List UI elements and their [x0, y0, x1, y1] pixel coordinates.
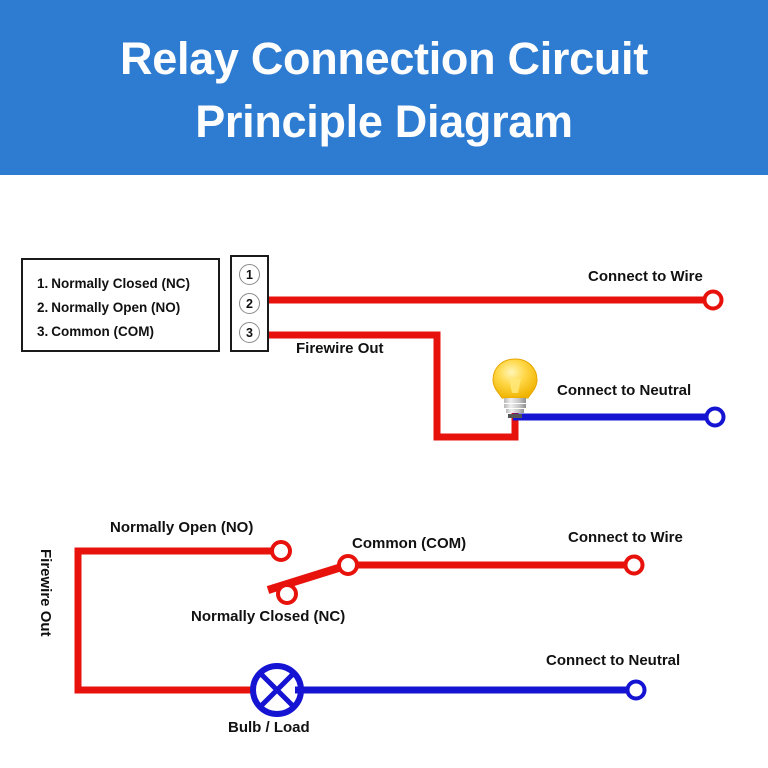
- terminal-pin-1[interactable]: 1: [239, 264, 260, 285]
- label-firewire-out-top: Firewire Out: [296, 340, 384, 357]
- terminal-connect-to-wire-top: [705, 292, 722, 309]
- legend-item-nc-number: 1.: [37, 276, 48, 291]
- diagram-page: Relay Connection Circuit Principle Diagr…: [0, 0, 768, 768]
- legend-item-nc-label: Normally Closed (NC): [51, 276, 190, 291]
- terminal-normally-open: [272, 542, 290, 560]
- terminal-connect-to-neutral-bottom: [628, 682, 645, 699]
- legend-item-com: 3.Common (COM): [37, 320, 218, 344]
- legend-item-nc: 1.Normally Closed (NC): [37, 272, 218, 296]
- label-normally-closed: Normally Closed (NC): [191, 608, 345, 625]
- terminal-common: [339, 556, 357, 574]
- label-firewire-out-bottom: Firewire Out: [37, 549, 54, 637]
- legend-item-com-number: 3.: [37, 324, 48, 339]
- label-common: Common (COM): [352, 535, 466, 552]
- label-connect-to-wire-top: Connect to Wire: [588, 268, 703, 285]
- legend-item-com-label: Common (COM): [51, 324, 154, 339]
- terminal-pin-2[interactable]: 2: [239, 293, 260, 314]
- label-connect-to-neutral-bottom: Connect to Neutral: [546, 652, 680, 669]
- terminal-connect-to-neutral-top: [707, 409, 724, 426]
- terminal-pin-3[interactable]: 3: [239, 322, 260, 343]
- lightbulb-icon: [490, 357, 540, 419]
- legend-item-no: 2.Normally Open (NO): [37, 296, 218, 320]
- label-connect-to-wire-bottom: Connect to Wire: [568, 529, 683, 546]
- label-connect-to-neutral-top: Connect to Neutral: [557, 382, 691, 399]
- relay-terminal-block: 1 2 3: [230, 255, 269, 352]
- legend-item-no-number: 2.: [37, 300, 48, 315]
- terminal-connect-to-wire-bottom: [626, 557, 643, 574]
- label-bulb-load: Bulb / Load: [228, 719, 310, 736]
- legend-box: 1.Normally Closed (NC) 2.Normally Open (…: [21, 258, 220, 352]
- label-normally-open: Normally Open (NO): [110, 519, 253, 536]
- terminal-normally-closed: [278, 585, 296, 603]
- legend-item-no-label: Normally Open (NO): [51, 300, 180, 315]
